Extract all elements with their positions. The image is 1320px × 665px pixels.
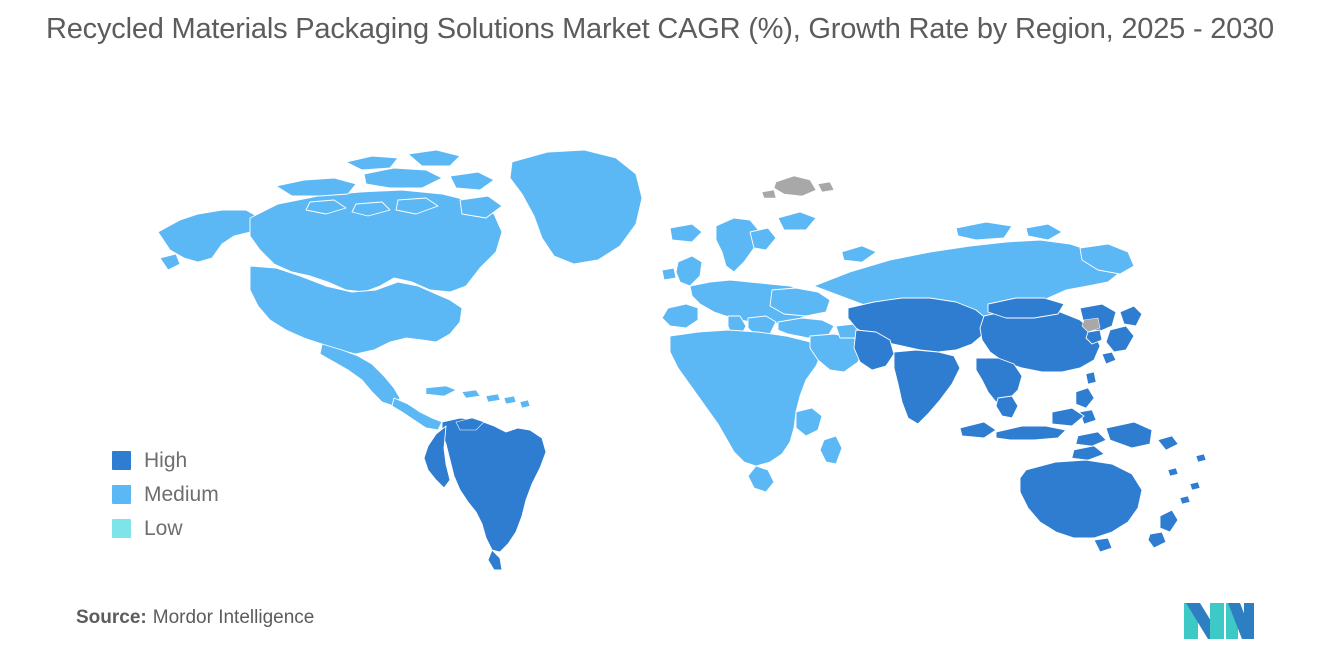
map-region-asia-high bbox=[848, 298, 1206, 552]
legend-swatch-low bbox=[112, 519, 131, 538]
mordor-intelligence-logo bbox=[1180, 599, 1258, 643]
source-label: Source: bbox=[76, 607, 147, 628]
legend-item-low[interactable]: Low bbox=[112, 518, 219, 539]
page-title: Recycled Materials Packaging Solutions M… bbox=[0, 10, 1320, 49]
legend-swatch-medium bbox=[112, 485, 131, 504]
chart-canvas: Recycled Materials Packaging Solutions M… bbox=[0, 0, 1320, 665]
legend-item-high[interactable]: High bbox=[112, 450, 219, 471]
map-legend: High Medium Low bbox=[112, 450, 219, 539]
map-region-south-america bbox=[424, 418, 546, 570]
footer: Source:Mordor Intelligence bbox=[0, 601, 1320, 645]
source-attribution: Source:Mordor Intelligence bbox=[76, 607, 314, 629]
legend-swatch-high bbox=[112, 451, 131, 470]
legend-label-high: High bbox=[144, 450, 187, 471]
legend-label-low: Low bbox=[144, 518, 183, 539]
map-region-north-america bbox=[158, 150, 702, 430]
legend-label-medium: Medium bbox=[144, 484, 219, 505]
legend-item-medium[interactable]: Medium bbox=[112, 484, 219, 505]
source-value: Mordor Intelligence bbox=[153, 607, 315, 628]
world-choropleth-map: .hi { fill:#2e7dd1; } .med { fill:#5cb7f… bbox=[150, 140, 1210, 570]
